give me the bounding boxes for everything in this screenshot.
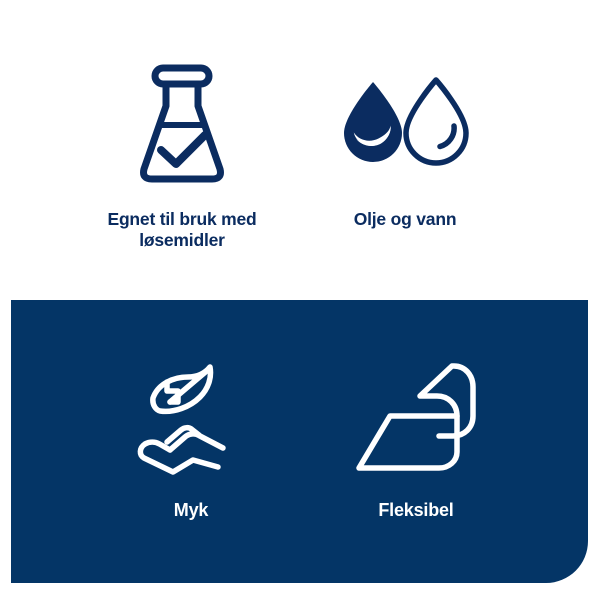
feature-label-line-1: Fleksibel bbox=[378, 500, 453, 520]
oil-water-droplets-icon bbox=[335, 62, 475, 188]
dark-feature-section: Myk Fleksibel bbox=[11, 300, 588, 583]
feature-solvent-resistant: Egnet til bruk med løsemidler bbox=[72, 62, 292, 250]
light-feature-section: Egnet til bruk med løsemidler bbox=[0, 0, 600, 292]
product-feature-graphic: Egnet til bruk med løsemidler bbox=[0, 0, 600, 600]
feature-label-line-1: Myk bbox=[174, 500, 208, 520]
feature-label-line-1: Olje og vann bbox=[354, 209, 457, 229]
droplet-filled-shape bbox=[344, 82, 402, 162]
feature-label-flexible: Fleksibel bbox=[378, 500, 453, 521]
feature-oil-and-water: Olje og vann bbox=[305, 62, 505, 230]
flexible-sheet-icon bbox=[351, 358, 481, 478]
feature-label-line-1: Egnet til bruk med bbox=[107, 209, 256, 229]
droplet-outline-shape bbox=[406, 80, 466, 163]
feature-soft: Myk bbox=[81, 358, 301, 521]
feature-label-line-2: løsemidler bbox=[139, 230, 225, 250]
feature-label-soft: Myk bbox=[174, 500, 208, 521]
hand-feather-icon bbox=[126, 358, 256, 478]
flask-check-icon bbox=[134, 62, 230, 188]
feature-flexible: Fleksibel bbox=[306, 358, 526, 521]
feature-label-solvent-resistant: Egnet til bruk med løsemidler bbox=[107, 209, 256, 250]
feature-label-oil-and-water: Olje og vann bbox=[354, 209, 457, 230]
